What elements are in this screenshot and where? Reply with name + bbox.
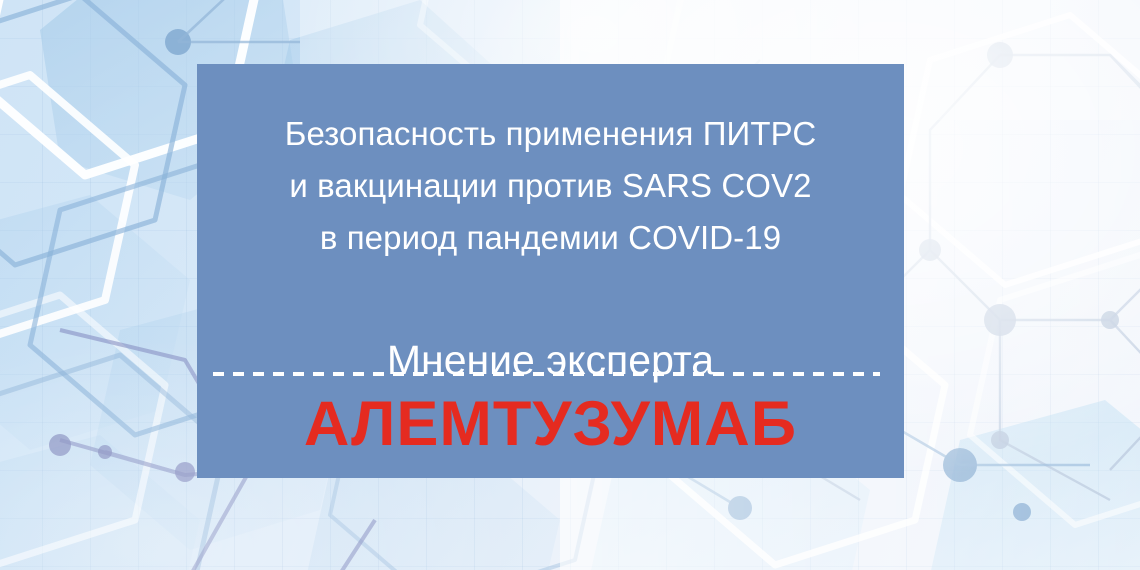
drug-name: АЛЕМТУЗУМАБ (197, 386, 904, 462)
subtitle: Мнение эксперта (197, 336, 904, 384)
title-line-3: в период пандемии COVID-19 (197, 212, 904, 264)
title-line-1: Безопасность применения ПИТРС (197, 108, 904, 160)
slide-canvas: Безопасность применения ПИТРС и вакцинац… (0, 0, 1140, 570)
dashed-divider (213, 372, 880, 376)
title-line-2: и вакцинации против SARS COV2 (197, 160, 904, 212)
title-card: Безопасность применения ПИТРС и вакцинац… (197, 64, 904, 478)
title-block: Безопасность применения ПИТРС и вакцинац… (197, 108, 904, 264)
